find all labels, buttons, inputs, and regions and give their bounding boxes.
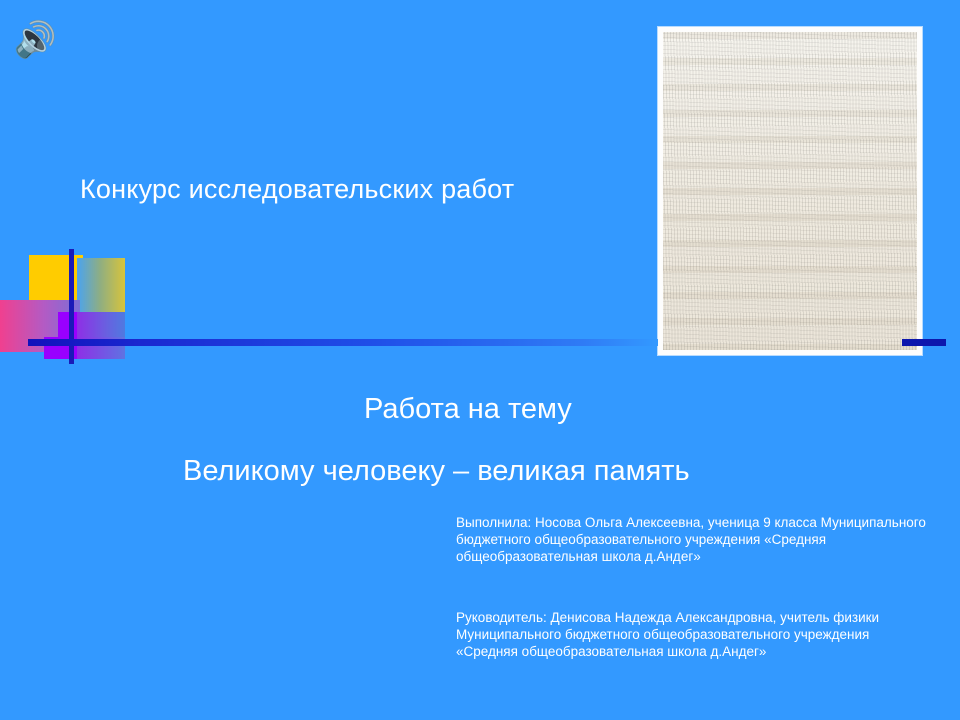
portrait-engraving-figure — [663, 32, 917, 350]
decor-vertical-line — [69, 249, 74, 364]
divider-line-right — [902, 339, 946, 346]
competition-title: Конкурс исследовательских работ — [80, 174, 514, 205]
theme-title: Великому человеку – великая память — [183, 455, 690, 488]
work-label: Работа на тему — [364, 393, 572, 426]
divider-line-left — [28, 339, 658, 346]
portrait-canvas — [663, 32, 917, 350]
decor-gradient-square — [77, 258, 125, 314]
author-credit: Выполнила: Носова Ольга Алексеевна, учен… — [456, 514, 926, 565]
supervisor-credit: Руководитель: Денисова Надежда Александр… — [456, 609, 926, 660]
presentation-slide: 🔊 Конкурс исследовательских работ Работа… — [0, 0, 960, 720]
lomonosov-portrait — [658, 27, 922, 355]
